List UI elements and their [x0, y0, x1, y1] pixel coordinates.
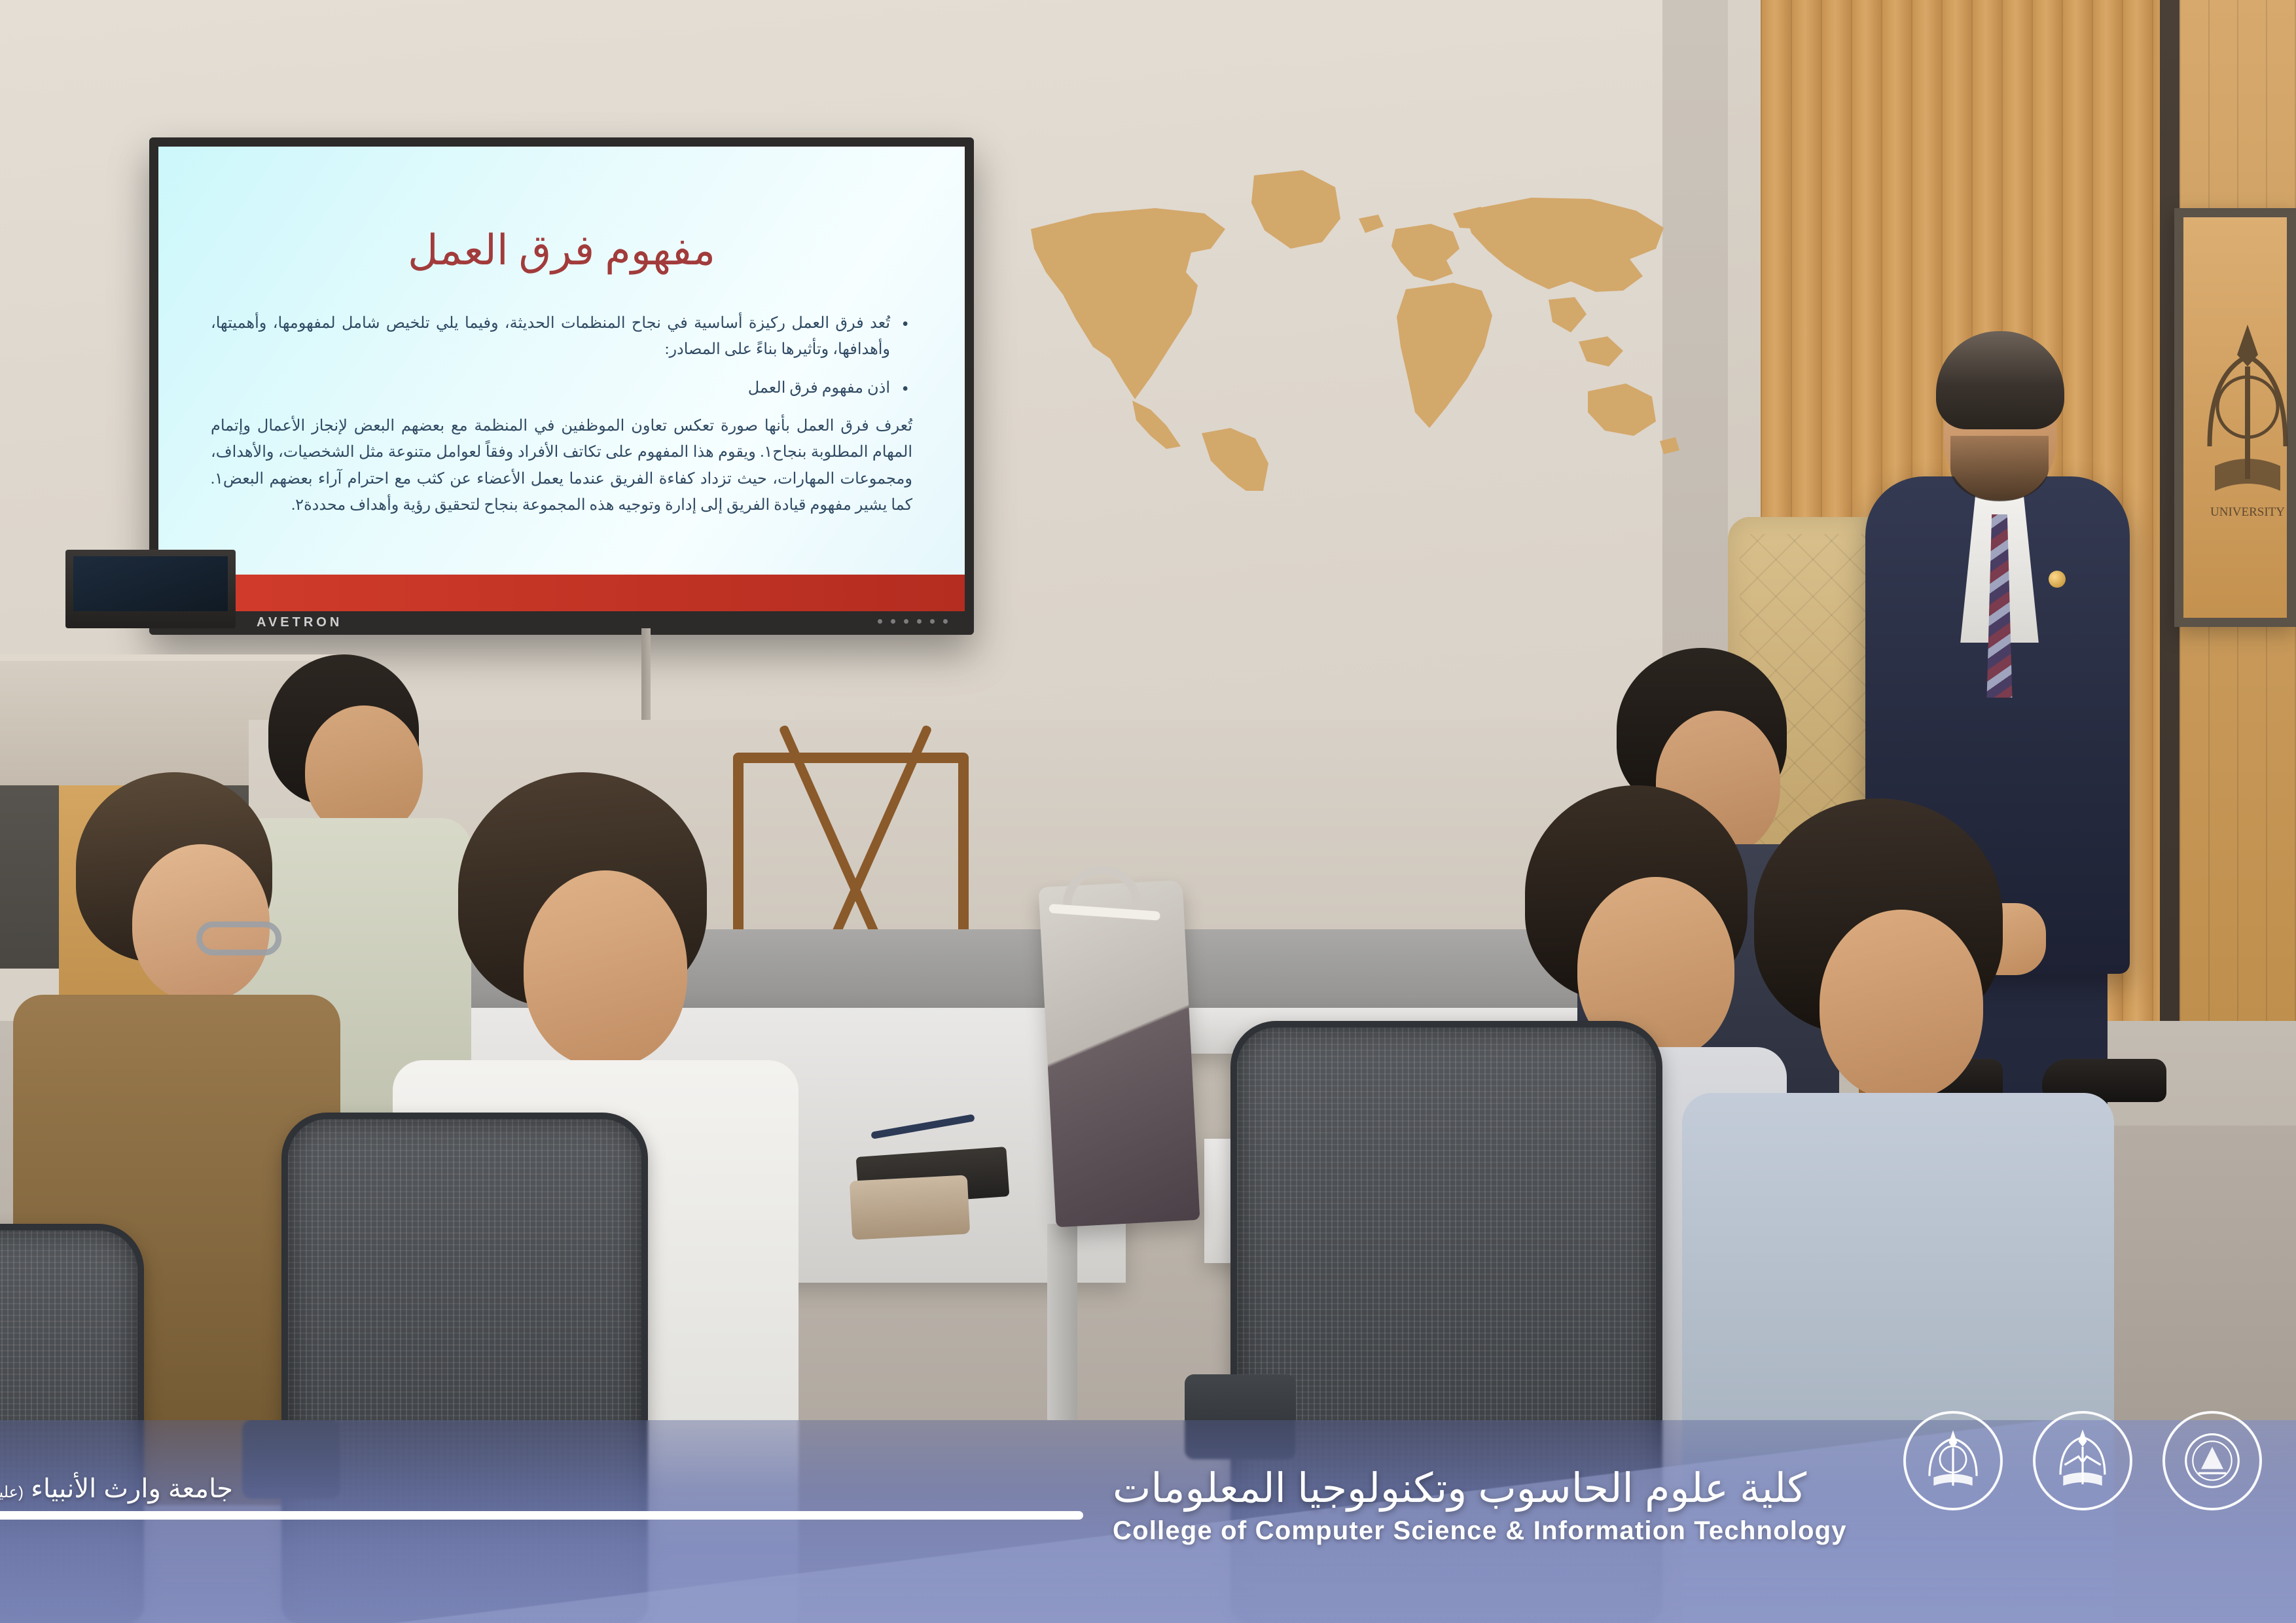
interactive-display[interactable]: مفهوم فرق العمل تُعد فرق العمل ركيزة أسا…: [149, 137, 974, 635]
university-name-text: جامعة وارث الأنبياء: [31, 1474, 233, 1503]
presenter-hair: [1936, 331, 2064, 429]
student-head: [524, 870, 687, 1067]
lapel-pin: [2049, 571, 2066, 588]
laptop-bag: [1039, 880, 1200, 1228]
college-seal-logo: [1903, 1411, 2003, 1510]
college-name-block: كلية علوم الحاسوب وتكنولوجيا المعلومات C…: [1113, 1467, 1847, 1546]
university-seal-logo: [2033, 1411, 2132, 1510]
world-map-wall-art: [995, 151, 1682, 491]
footer-rule: [0, 1511, 1083, 1520]
wall-plaque: UNIVERSITY: [2174, 208, 2296, 627]
display-buttons[interactable]: [878, 619, 948, 624]
eyeglasses-icon: [196, 921, 281, 955]
world-map-icon: [995, 151, 1682, 491]
college-seal-icon: [1918, 1426, 1988, 1495]
plaque-text: UNIVERSITY: [2210, 505, 2285, 519]
slide-bullet: اذن مفهوم فرق العمل: [211, 375, 912, 401]
footer-banner: جامعة وارث الأنبياء (عليه السلام) كلية ع…: [0, 1420, 2296, 1623]
desk-leg: [1047, 1224, 1077, 1420]
podium-monitor: [65, 550, 236, 628]
display-brand-label: AVETRON: [257, 615, 342, 630]
slide-accent-bar: [158, 575, 965, 611]
footer-logos: [1903, 1411, 2262, 1510]
display-bezel: AVETRON: [158, 611, 965, 633]
university-seal-icon: [2048, 1426, 2117, 1495]
university-name-suffix: (عليه السلام): [0, 1484, 24, 1501]
pencil-case: [850, 1175, 970, 1240]
photo-scene: UNIVERSITY: [0, 0, 2296, 1623]
presenter-beard: [1950, 436, 2049, 501]
college-name-english: College of Computer Science & Informatio…: [1113, 1516, 1847, 1546]
ministry-seal-logo: [2162, 1411, 2262, 1510]
student-head: [1820, 910, 1983, 1099]
slide-bullet: تُعد فرق العمل ركيزة أساسية في نجاح المن…: [211, 310, 912, 363]
university-name-arabic: جامعة وارث الأنبياء (عليه السلام): [0, 1474, 233, 1504]
university-emblem-icon: UNIVERSITY: [2195, 315, 2296, 531]
display-screen[interactable]: مفهوم فرق العمل تُعد فرق العمل ركيزة أسا…: [158, 147, 965, 611]
slide-title: مفهوم فرق العمل: [211, 226, 912, 275]
presentation-slide: مفهوم فرق العمل تُعد فرق العمل ركيزة أسا…: [158, 147, 965, 611]
ministry-seal-icon: [2178, 1426, 2247, 1495]
slide-body: تُعد فرق العمل ركيزة أساسية في نجاح المن…: [211, 310, 912, 518]
college-name-arabic: كلية علوم الحاسوب وتكنولوجيا المعلومات: [1113, 1467, 1847, 1511]
slide-paragraph: تُعرف فرق العمل بأنها صورة تعكس تعاون ال…: [211, 413, 912, 518]
